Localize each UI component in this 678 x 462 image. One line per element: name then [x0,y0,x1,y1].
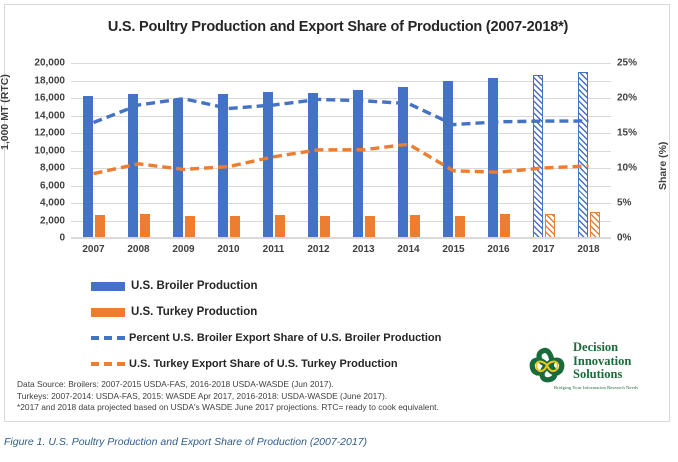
x-tick-label-2010: 2010 [207,244,251,255]
x-tick-label-2017: 2017 [522,244,566,255]
legend-swatch-turkey-bar [91,308,125,317]
footnote-line-2: Turkeys: 2007-2014: USDA-FAS, 2015: WASD… [17,391,507,403]
footnote-block: Data Source: Broilers: 2007-2015 USDA-FA… [17,379,507,414]
legend-dash-broiler-share [91,336,125,340]
x-tick-label-2016: 2016 [477,244,521,255]
y-tick-label-left: 2,000 [7,215,65,226]
y-tick-label-left: 12,000 [7,128,65,139]
x-tick-label-2013: 2013 [342,244,386,255]
y-tick-label-left: 10,000 [7,145,65,156]
legend-label-broiler-production: U.S. Broiler Production [131,280,258,292]
y-tick-label-right: 15% [617,128,663,139]
logo-line-3: Solutions [573,368,669,382]
plot-area [71,63,611,238]
y-tick-label-right: 5% [617,198,663,209]
x-tick-label-2015: 2015 [432,244,476,255]
y-tick-label-left: 16,000 [7,93,65,104]
legend-item-turkey-production: U.S. Turkey Production [91,299,561,325]
legend-label-turkey-export-share: U.S. Turkey Export Share of U.S. Turkey … [129,358,398,370]
legend-label-broiler-export-share: Percent U.S. Broiler Export Share of U.S… [129,332,441,344]
y-tick-label-right: 20% [617,93,663,104]
logo-wordmark: Decision Innovation Solutions [573,341,669,382]
legend-label-turkey-production: U.S. Turkey Production [131,306,257,318]
x-tick-label-2018: 2018 [567,244,611,255]
celtic-knot-icon [525,345,569,385]
footnote-line-3: *2017 and 2018 data projected based on U… [17,402,507,414]
footnote-line-1: Data Source: Broilers: 2007-2015 USDA-FA… [17,379,507,391]
x-tick-label-2011: 2011 [252,244,296,255]
y-tick-label-right: 0% [617,233,663,244]
chart-legend: U.S. Broiler Production U.S. Turkey Prod… [91,273,561,377]
line-series-group [71,63,611,238]
gridline [71,238,611,239]
x-tick-label-2007: 2007 [72,244,116,255]
legend-item-turkey-export-share: U.S. Turkey Export Share of U.S. Turkey … [91,351,561,377]
line-broiler-export-share [94,99,589,125]
y-tick-label-left: 14,000 [7,110,65,121]
y-tick-label-right: 10% [617,163,663,174]
logo-line-1: Decision [573,341,669,355]
y-tick-label-left: 18,000 [7,75,65,86]
legend-item-broiler-export-share: Percent U.S. Broiler Export Share of U.S… [91,325,561,351]
legend-item-broiler-production: U.S. Broiler Production [91,273,561,299]
y-tick-label-left: 8,000 [7,163,65,174]
x-tick-label-2012: 2012 [297,244,341,255]
legend-swatch-broiler-bar [91,282,125,291]
line-turkey-export-share [94,144,589,173]
company-logo: Decision Innovation Solutions Bridging Y… [525,341,665,397]
y-tick-label-left: 6,000 [7,180,65,191]
logo-line-2: Innovation [573,355,669,369]
figure-caption: Figure 1. U.S. Poultry Production and Ex… [4,436,604,448]
x-axis-line [71,237,611,238]
x-tick-label-2009: 2009 [162,244,206,255]
chart-title: U.S. Poultry Production and Export Share… [5,19,671,35]
chart-panel: U.S. Poultry Production and Export Share… [4,4,670,422]
x-tick-label-2008: 2008 [117,244,161,255]
y-tick-label-left: 4,000 [7,198,65,209]
logo-tagline: Bridging Your Information Research Needs [525,385,667,390]
y-tick-label-left: 20,000 [7,58,65,69]
y-tick-label-left: 0 [7,233,65,244]
y-tick-label-right: 25% [617,58,663,69]
x-tick-label-2014: 2014 [387,244,431,255]
figure-container: U.S. Poultry Production and Export Share… [0,0,678,462]
legend-dash-turkey-share [91,362,125,366]
